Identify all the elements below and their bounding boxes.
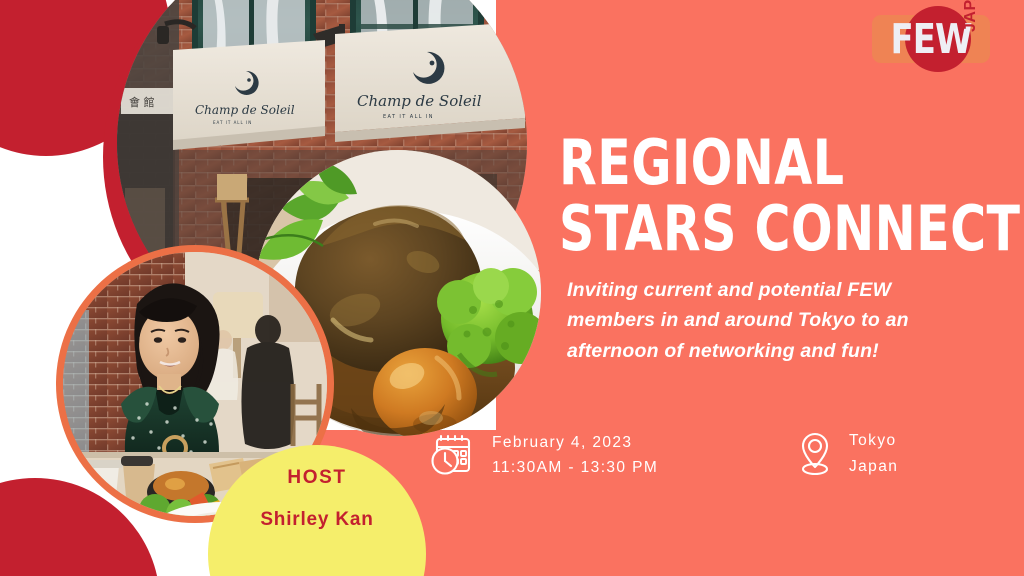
host-label: HOST xyxy=(208,467,426,489)
location-text: Tokyo Japan xyxy=(849,428,898,480)
title-line-1: REGIONAL xyxy=(559,130,946,196)
calendar-clock-icon xyxy=(430,432,476,478)
location-block: Tokyo Japan xyxy=(795,428,898,480)
svg-text:EAT IT ALL IN: EAT IT ALL IN xyxy=(383,114,434,120)
date-time-text: February 4, 2023 11:30AM - 13:30 PM xyxy=(492,430,658,480)
svg-text:會 館: 會 館 xyxy=(129,95,155,109)
location-city: Tokyo xyxy=(849,428,898,454)
svg-text:Champ de Soleil: Champ de Soleil xyxy=(357,92,482,110)
svg-text:Champ de Soleil: Champ de Soleil xyxy=(195,103,295,117)
date-time-block: February 4, 2023 11:30AM - 13:30 PM xyxy=(430,430,658,480)
host-name: Shirley Kan xyxy=(208,509,426,531)
location-country: Japan xyxy=(849,454,898,480)
event-flyer: 會 館 xyxy=(0,0,1024,576)
event-description: Inviting current and potential FEW membe… xyxy=(567,275,949,367)
svg-text:EAT IT ALL IN: EAT IT ALL IN xyxy=(213,120,252,125)
map-pin-icon xyxy=(795,429,835,479)
page-title: REGIONAL STARS CONNECT xyxy=(559,130,946,262)
event-date: February 4, 2023 xyxy=(492,430,658,455)
logo-region-label: JAPAN xyxy=(962,0,984,32)
few-japan-logo[interactable]: FEW JAPAN xyxy=(872,6,1016,80)
title-line-2: STARS CONNECT xyxy=(559,196,946,262)
event-time: 11:30AM - 13:30 PM xyxy=(492,455,658,480)
